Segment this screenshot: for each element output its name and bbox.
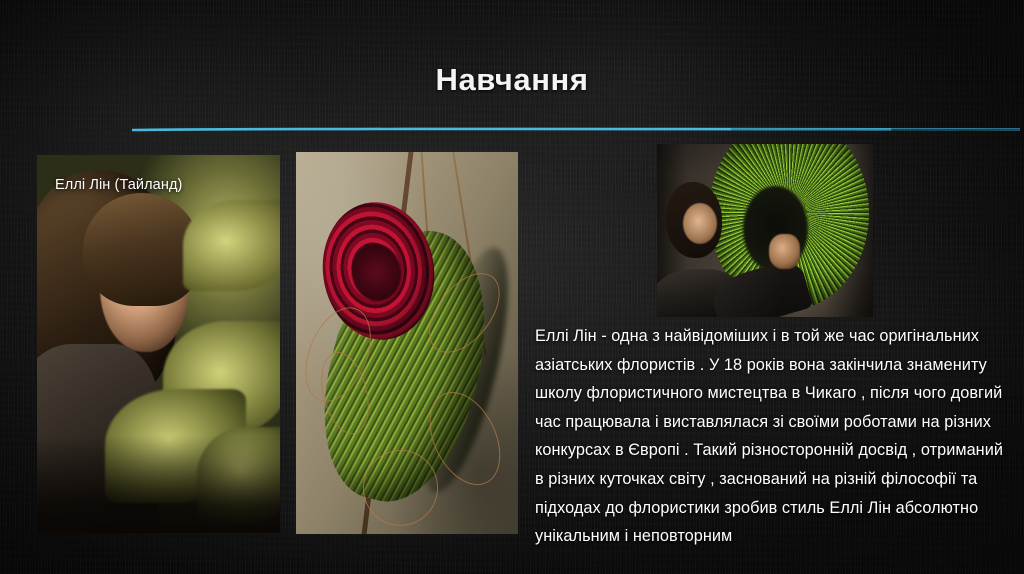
- body-paragraph: Еллі Лін - одна з найвідоміших і в той ж…: [535, 322, 1013, 551]
- photo1-bottom-shadow: [37, 435, 280, 533]
- underline-stroke-icon: [132, 127, 1020, 132]
- image-woman-foliage: Еллі Лін (Тайланд): [37, 155, 280, 533]
- photo1-foliage-cluster: [183, 200, 280, 291]
- title-underline-divider: [132, 119, 1020, 124]
- photo3-edge-fade: [657, 144, 873, 317]
- image-green-wreath: [657, 144, 873, 317]
- photo1-caption: Еллі Лін (Тайланд): [55, 177, 182, 193]
- slide-canvas: Навчання Еллі Лін (Тайланд): [0, 0, 1024, 574]
- image-rose-cone: [296, 152, 518, 534]
- slide-title: Навчання: [0, 62, 1024, 98]
